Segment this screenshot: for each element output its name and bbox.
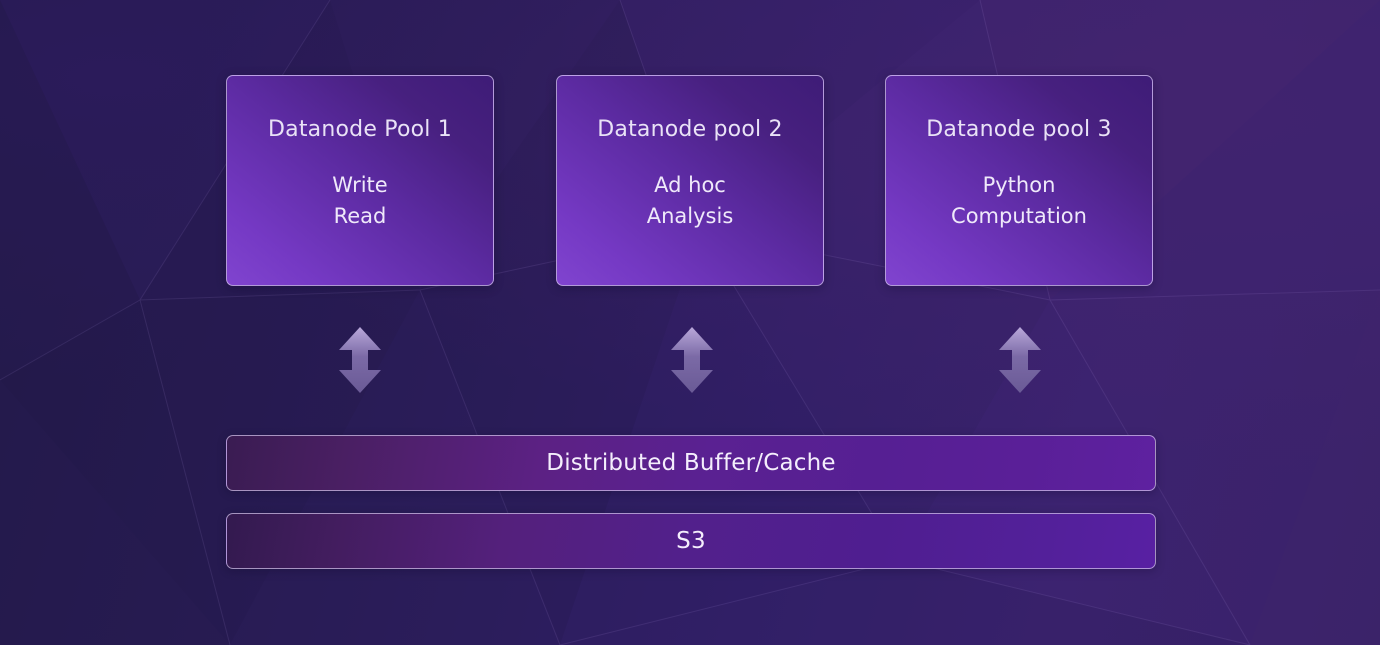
datanode-pool-3-title: Datanode pool 3 [926, 118, 1111, 142]
s3-bar[interactable]: S3 [226, 513, 1156, 569]
datanode-pool-1-box[interactable]: Datanode Pool 1 Write Read [226, 75, 494, 286]
datanode-pool-3-box[interactable]: Datanode pool 3 Python Computation [885, 75, 1153, 286]
double-arrow-vertical-icon [337, 326, 383, 394]
double-arrow-vertical-icon [997, 326, 1043, 394]
datanode-pool-1-role-1: Write [332, 170, 387, 200]
datanode-pool-3-roles: Python Computation [951, 170, 1087, 231]
datanode-pool-2-box[interactable]: Datanode pool 2 Ad hoc Analysis [556, 75, 824, 286]
datanode-pool-3-role-2: Computation [951, 201, 1087, 231]
double-arrow-vertical-icon [669, 326, 715, 394]
datanode-pool-1-role-2: Read [332, 201, 387, 231]
datanode-pool-2-roles: Ad hoc Analysis [647, 170, 734, 231]
distributed-buffer-cache-bar[interactable]: Distributed Buffer/Cache [226, 435, 1156, 491]
datanode-pool-2-role-1: Ad hoc [647, 170, 734, 200]
diagram-canvas: Datanode Pool 1 Write Read Datanode pool… [0, 0, 1380, 645]
datanode-pool-2-role-2: Analysis [647, 201, 734, 231]
datanode-pool-3-role-1: Python [951, 170, 1087, 200]
distributed-buffer-cache-label: Distributed Buffer/Cache [546, 450, 835, 476]
datanode-pool-2-title: Datanode pool 2 [597, 118, 782, 142]
datanode-pool-1-title: Datanode Pool 1 [268, 118, 452, 142]
s3-label: S3 [676, 528, 706, 554]
datanode-pool-1-roles: Write Read [332, 170, 387, 231]
